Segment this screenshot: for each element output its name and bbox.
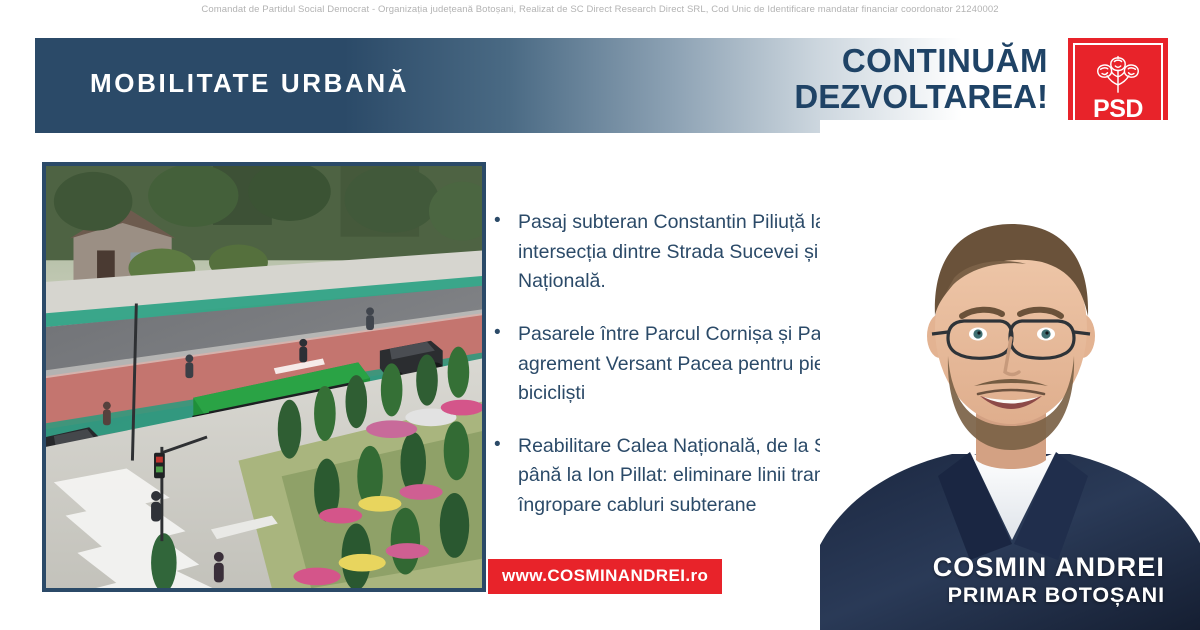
page-title: MOBILITATE URBANĂ: [90, 68, 409, 99]
three-roses-icon: [1091, 54, 1145, 96]
candidate-portrait: COSMIN ANDREI PRIMAR BOTOȘANI: [820, 120, 1200, 630]
psd-logo-inner: PSD: [1073, 43, 1163, 128]
traffic-light: [154, 453, 165, 479]
website-badge[interactable]: www.COSMINANDREI.ro: [488, 559, 722, 594]
project-rendering-photo: [42, 162, 486, 592]
campaign-poster: Comandat de Partidul Social Democrat - O…: [0, 0, 1200, 630]
street-rendering-illustration: [46, 166, 482, 588]
campaign-slogan: CONTINUĂM DEZVOLTAREA!: [794, 43, 1048, 114]
candidate-name: COSMIN ANDREI: [933, 553, 1165, 583]
legal-disclaimer: Comandat de Partidul Social Democrat - O…: [0, 4, 1200, 15]
candidate-role: PRIMAR BOTOȘANI: [933, 583, 1165, 608]
slogan-line-1: CONTINUĂM: [794, 43, 1048, 79]
slogan-line-2: DEZVOLTAREA!: [794, 79, 1048, 115]
candidate-name-block: COSMIN ANDREI PRIMAR BOTOȘANI: [933, 553, 1165, 608]
psd-logo: PSD: [1068, 38, 1168, 133]
psd-logo-text: PSD: [1093, 97, 1143, 122]
